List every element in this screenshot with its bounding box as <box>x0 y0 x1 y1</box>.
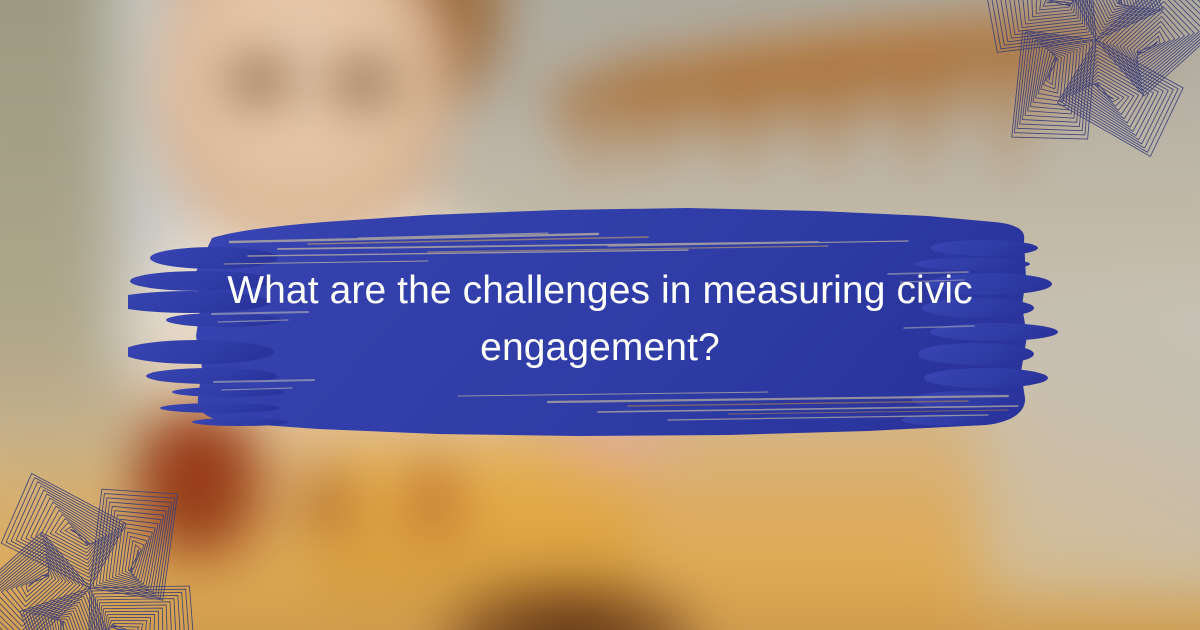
background-toy-peg <box>404 460 462 542</box>
background-child-eye <box>329 62 395 102</box>
quote-card: What are the challenges in measuring civ… <box>0 0 1200 630</box>
background-child-eye <box>227 60 293 100</box>
page-title: What are the challenges in measuring civ… <box>190 262 1010 376</box>
background-toy-peg <box>300 468 356 540</box>
